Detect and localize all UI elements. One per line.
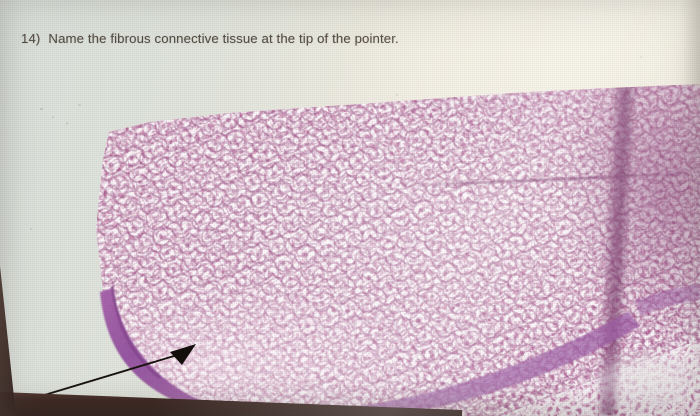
dust-speck — [396, 94, 398, 96]
dust-speck — [118, 346, 120, 348]
dust-speck — [30, 228, 32, 230]
arrow-icon — [0, 0, 700, 416]
dust-speck — [40, 108, 43, 110]
dust-speck — [52, 116, 54, 118]
dust-speck — [66, 122, 68, 125]
dust-speck — [640, 56, 642, 58]
screen-edge-right — [682, 0, 700, 86]
screen-photo: 14)Name the fibrous connective tissue at… — [0, 0, 700, 416]
dust-speck — [78, 104, 81, 106]
arrow-head — [170, 344, 196, 365]
